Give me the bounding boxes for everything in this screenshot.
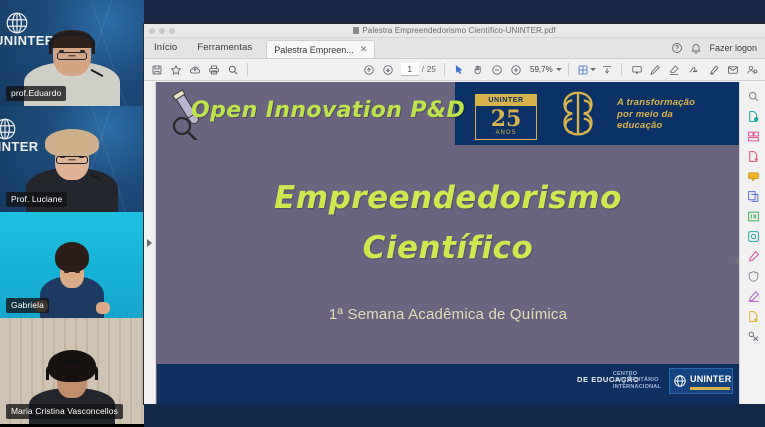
email-icon[interactable] [724, 60, 741, 79]
page-navigation[interactable]: 1 / 25 [401, 63, 436, 76]
participant-name-badge: prof.Eduardo [6, 86, 66, 102]
arrow-down-circle-icon[interactable] [380, 60, 397, 79]
slogan-line-3: educação [617, 120, 695, 132]
fit-width-icon[interactable] [598, 60, 615, 79]
toolbar-separator [568, 63, 569, 76]
footer-institution: CENTRO UNIVERSITÁRIO INTERNACIONAL [613, 371, 661, 391]
slide-title-line-1: Empreendedorismo [157, 180, 739, 216]
page-separator: / [422, 65, 424, 74]
toolbar-separator [621, 63, 622, 76]
slide-subtitle: 1ª Semana Acadêmica de Química [157, 306, 739, 323]
document-tab[interactable]: Palestra Empreen... ✕ [266, 40, 375, 58]
cloud-upload-icon[interactable] [187, 60, 204, 79]
meeting-screen-share-view: UNINTER prof.Eduardo UNINTER [0, 0, 765, 427]
toolbar-separator [444, 63, 445, 76]
brand-slogan: A transformação por meio da educação [617, 97, 695, 132]
sign-in-button[interactable]: Fazer logon [709, 43, 757, 53]
participant-tile-3[interactable]: Maria Cristina Vasconcellos [0, 318, 144, 424]
slide-header-band: Open Innovation P&D UNINTER 25 ANOS [157, 82, 739, 145]
participant-tile-0[interactable]: UNINTER prof.Eduardo [0, 0, 144, 106]
document-viewport[interactable]: Open Innovation P&D UNINTER 25 ANOS [144, 82, 739, 404]
share-icon[interactable] [705, 60, 722, 79]
chevron-down-icon[interactable] [590, 68, 596, 71]
scan-ocr-icon[interactable] [740, 226, 765, 246]
window-bottom-strip [144, 404, 765, 427]
participant-name-badge: Maria Cristina Vasconcellos [6, 404, 123, 420]
stamp-icon[interactable] [740, 286, 765, 306]
add-person-icon[interactable] [743, 60, 760, 79]
institution-line-2: UNIVERSITÁRIO [613, 377, 661, 384]
close-icon[interactable]: ✕ [360, 44, 368, 55]
window-title: Palestra Empreendedorismo Científico-UNI… [144, 26, 765, 35]
arrow-up-circle-icon[interactable] [361, 60, 378, 79]
badge-number: 25 [476, 108, 536, 130]
zoom-in-icon[interactable] [507, 60, 524, 79]
tab-inicio[interactable]: Início [144, 42, 187, 58]
program-title: Open Innovation P&D [191, 98, 465, 123]
slide-title-line-2: Científico [157, 230, 739, 266]
slogan-line-2: por meio da [617, 109, 695, 121]
badge-word: ANOS [476, 130, 536, 137]
select-cursor-icon[interactable] [451, 60, 468, 79]
export-pdf-icon[interactable] [740, 106, 765, 126]
expand-pane-icon[interactable] [147, 239, 152, 247]
uninter-25-badge: UNINTER 25 ANOS [475, 94, 537, 140]
toolbar-separator [247, 63, 248, 76]
bell-icon[interactable] [690, 42, 702, 54]
document-tab-label: Palestra Empreen... [274, 45, 354, 55]
pdf-page: Open Innovation P&D UNINTER 25 ANOS [157, 82, 739, 404]
participant-tile-2[interactable]: Gabriela [0, 212, 144, 318]
pdf-file-icon [353, 27, 359, 34]
zoom-level-value: 59,7% [530, 65, 553, 74]
participant-name-badge: Prof. Luciane [6, 192, 67, 208]
institution-line-3: INTERNACIONAL [613, 384, 661, 391]
pdf-toolbar: 1 / 25 59,7% [144, 59, 765, 81]
help-circle-icon[interactable] [671, 42, 683, 54]
comment-tool-icon[interactable] [740, 166, 765, 186]
acrobat-reader-window: Palestra Empreendedorismo Científico-UNI… [144, 24, 765, 404]
protect-icon[interactable] [740, 266, 765, 286]
page-total: 25 [427, 65, 436, 74]
organize-pages-icon[interactable] [740, 126, 765, 146]
save-icon[interactable] [149, 60, 166, 79]
more-tools-icon[interactable] [740, 326, 765, 346]
badge-brand: UNINTER [476, 95, 536, 106]
print-icon[interactable] [205, 60, 222, 79]
tab-ferramentas[interactable]: Ferramentas [187, 42, 262, 58]
slogan-line-1: A transformação [617, 97, 695, 109]
zoom-control[interactable]: 59,7% [530, 65, 562, 74]
search-icon[interactable] [224, 60, 241, 79]
comment-icon[interactable] [628, 60, 645, 79]
chevron-down-icon[interactable] [556, 68, 562, 71]
window-titlebar: Palestra Empreendedorismo Científico-UNI… [144, 24, 765, 38]
search-tool-icon[interactable] [740, 86, 765, 106]
star-icon[interactable] [168, 60, 185, 79]
page-number-input[interactable]: 1 [401, 63, 419, 76]
page-fit-icon[interactable] [575, 60, 592, 79]
uninter-knot-icon [549, 87, 607, 145]
participant-name-badge: Gabriela [6, 298, 49, 314]
zoom-out-icon[interactable] [488, 60, 505, 79]
footer-uninter-logo: UNINTER [669, 368, 733, 394]
navigation-pane-strip[interactable] [144, 82, 156, 404]
participant-rail: UNINTER prof.Eduardo UNINTER [0, 0, 144, 427]
hand-icon[interactable] [470, 60, 487, 79]
create-pdf-icon[interactable] [740, 146, 765, 166]
footer-logo-text: UNINTER [690, 374, 731, 384]
edit-pdf-icon[interactable] [740, 206, 765, 226]
combine-files-icon[interactable] [740, 186, 765, 206]
participant-tile-1[interactable]: UNINTER Prof. Luciane [0, 106, 144, 212]
fill-sign-icon[interactable] [740, 246, 765, 266]
compress-icon[interactable] [740, 306, 765, 326]
pen-icon[interactable] [647, 60, 664, 79]
tools-pane[interactable] [739, 82, 765, 404]
uninter-globe-icon [673, 374, 687, 388]
signature-icon[interactable] [685, 60, 702, 79]
collapse-pane-icon[interactable] [734, 257, 739, 265]
tab-bar: Início Ferramentas Palestra Empreen... ✕… [144, 38, 765, 59]
highlighter-icon[interactable] [666, 60, 683, 79]
slide-footer-band: DE EDUCAÇÃO CENTRO UNIVERSITÁRIO INTERNA… [157, 364, 739, 404]
logo-underline [690, 387, 730, 390]
